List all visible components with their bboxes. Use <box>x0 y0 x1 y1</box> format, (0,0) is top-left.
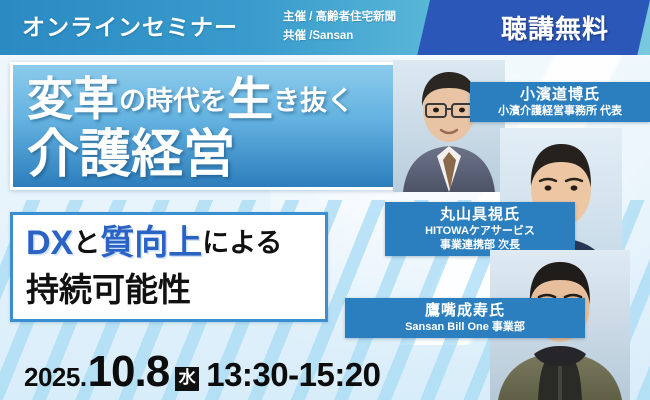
co-organizer-line: 共催 /Sansan <box>283 27 396 46</box>
schedule-bar: 2025.10.8水13:30-15:20 <box>0 342 650 400</box>
main-title-seg-3: 生 <box>227 73 273 125</box>
subtitle-panel: DXと質向上による 持続可能性 <box>10 212 328 322</box>
main-title-line-1: 変革の時代を生き抜く <box>27 71 354 129</box>
subtitle-accent-quality: 質向上 <box>100 224 202 262</box>
subtitle-line-1: DXと質向上による <box>26 219 282 267</box>
main-title-seg-1: 変革 <box>27 73 119 125</box>
speaker-name-kohama: 小濱道博氏 <box>480 85 640 104</box>
subtitle-line-2: 持続可能性 <box>26 267 191 313</box>
main-title-seg-2: の時代を <box>119 86 227 116</box>
seminar-banner: オンラインセミナー 主催 / 高齢者住宅新聞 共催 /Sansan 聴講無料 変… <box>0 0 650 400</box>
subtitle-plain-2: による <box>202 228 282 258</box>
speaker-caption-kohama: 小濱道博氏 小濱介護経営事務所 代表 <box>470 82 650 122</box>
speaker-affiliation-takanohashi: Sansan Bill One 事業部 <box>355 320 575 334</box>
speaker-name-maruyama: 丸山具視氏 <box>395 205 565 224</box>
header-title: オンラインセミナー <box>22 8 238 46</box>
organizer-info: 主催 / 高齢者住宅新聞 共催 /Sansan <box>283 8 396 46</box>
speaker-affiliation-kohama: 小濱介護経営事務所 代表 <box>480 104 640 118</box>
speaker-name-takanohashi: 鷹嘴成寿氏 <box>355 301 575 320</box>
main-title-line-2: 介護経営 <box>27 123 235 187</box>
main-title-seg-4: き抜く <box>273 86 354 116</box>
main-title-panel: 変革の時代を生き抜く 介護経営 <box>10 62 400 190</box>
organizer-line: 主催 / 高齢者住宅新聞 <box>283 8 396 27</box>
schedule-datetime: 2025.10.8水13:30-15:20 <box>24 357 381 394</box>
subtitle-plain-1: と <box>73 228 100 258</box>
schedule-day: 10.8 <box>88 357 170 387</box>
speaker-affiliation-maruyama-line1: HITOWAケアサービス <box>395 224 565 238</box>
speaker-photo-kohama <box>393 60 505 192</box>
schedule-year: 2025. <box>24 362 87 392</box>
free-admission-badge-label: 聴講無料 <box>470 0 640 55</box>
speaker-caption-maruyama: 丸山具視氏 HITOWAケアサービス 事業連携部 次長 <box>385 202 575 256</box>
subtitle-accent-dx: DX <box>26 224 73 262</box>
speaker-caption-takanohashi: 鷹嘴成寿氏 Sansan Bill One 事業部 <box>345 298 585 338</box>
banner-header: オンラインセミナー 主催 / 高齢者住宅新聞 共催 /Sansan 聴講無料 <box>0 0 650 55</box>
schedule-time: 13:30-15:20 <box>206 360 380 390</box>
schedule-day-of-week-badge: 水 <box>175 367 199 391</box>
